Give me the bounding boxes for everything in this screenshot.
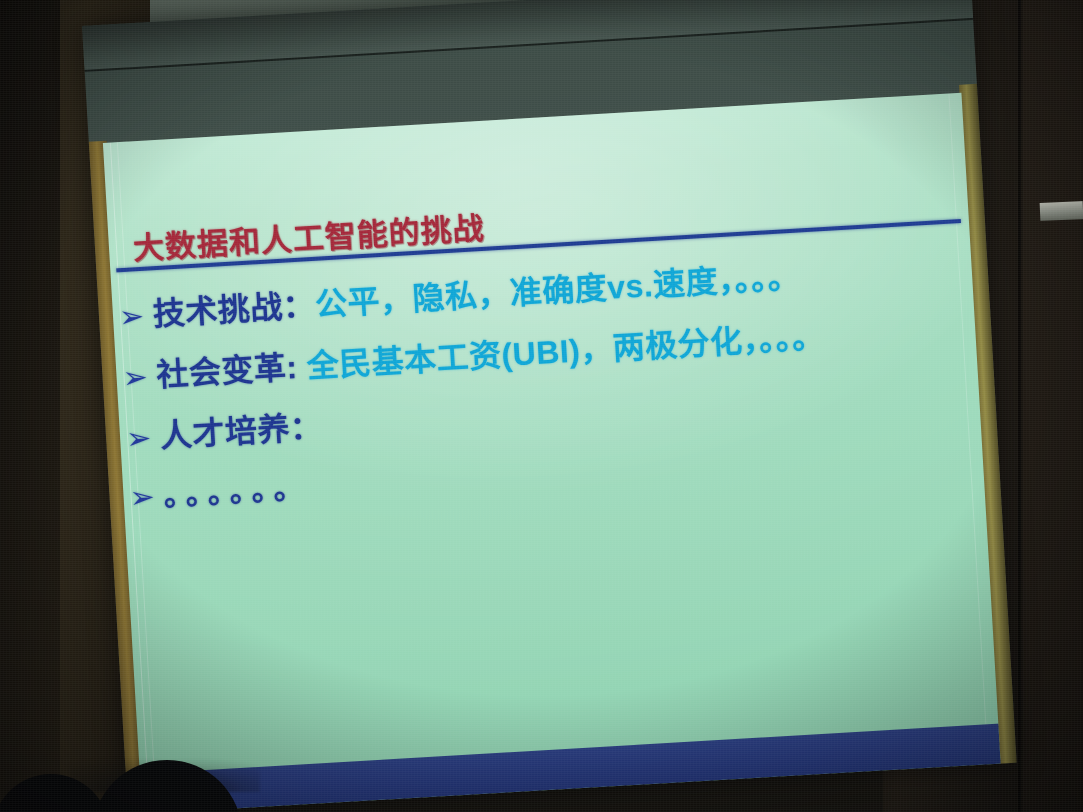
photo-scene: 大数据和人工智能的挑战 ➢ 技术挑战：公平，隐私，准确度vs.速度，。。。 ➢ … bbox=[0, 0, 1083, 812]
wall-seam bbox=[1018, 0, 1021, 812]
bullet-rest-text: 全民基本工资(UBI)，两极分化，。。。 bbox=[306, 318, 826, 384]
slide-content: 大数据和人工智能的挑战 ➢ 技术挑战：公平，隐私，准确度vs.速度，。。。 ➢ … bbox=[103, 93, 1001, 812]
bullet-arrow-icon: ➢ bbox=[125, 423, 161, 455]
bullet-arrow-icon: ➢ bbox=[122, 362, 158, 394]
bullet-lead-text: 社会变革: bbox=[155, 348, 307, 393]
left-wall-shadow bbox=[0, 0, 60, 812]
right-wall-panel bbox=[1023, 0, 1083, 812]
projection-screen: 大数据和人工智能的挑战 ➢ 技术挑战：公平，隐私，准确度vs.速度，。。。 ➢ … bbox=[82, 0, 1017, 812]
bullet-list: ➢ 技术挑战：公平，隐私，准确度vs.速度，。。。 ➢ 社会变革: 全民基本工资… bbox=[118, 251, 981, 542]
projected-slide: 大数据和人工智能的挑战 ➢ 技术挑战：公平，隐私，准确度vs.速度，。。。 ➢ … bbox=[103, 93, 1001, 812]
bullet-lead-text: 。。。。。。 bbox=[163, 471, 312, 513]
bullet-arrow-icon: ➢ bbox=[118, 301, 154, 333]
bullet-arrow-icon: ➢ bbox=[129, 482, 165, 514]
bullet-lead-text: 技术挑战： bbox=[152, 287, 316, 332]
wall-sign-icon bbox=[1040, 201, 1083, 221]
bullet-lead-text: 人才培养： bbox=[159, 408, 323, 453]
slide-footer-band: Four bbox=[140, 724, 1001, 812]
bullet-rest-text: 公平，隐私，准确度vs.速度，。。。 bbox=[314, 259, 801, 323]
